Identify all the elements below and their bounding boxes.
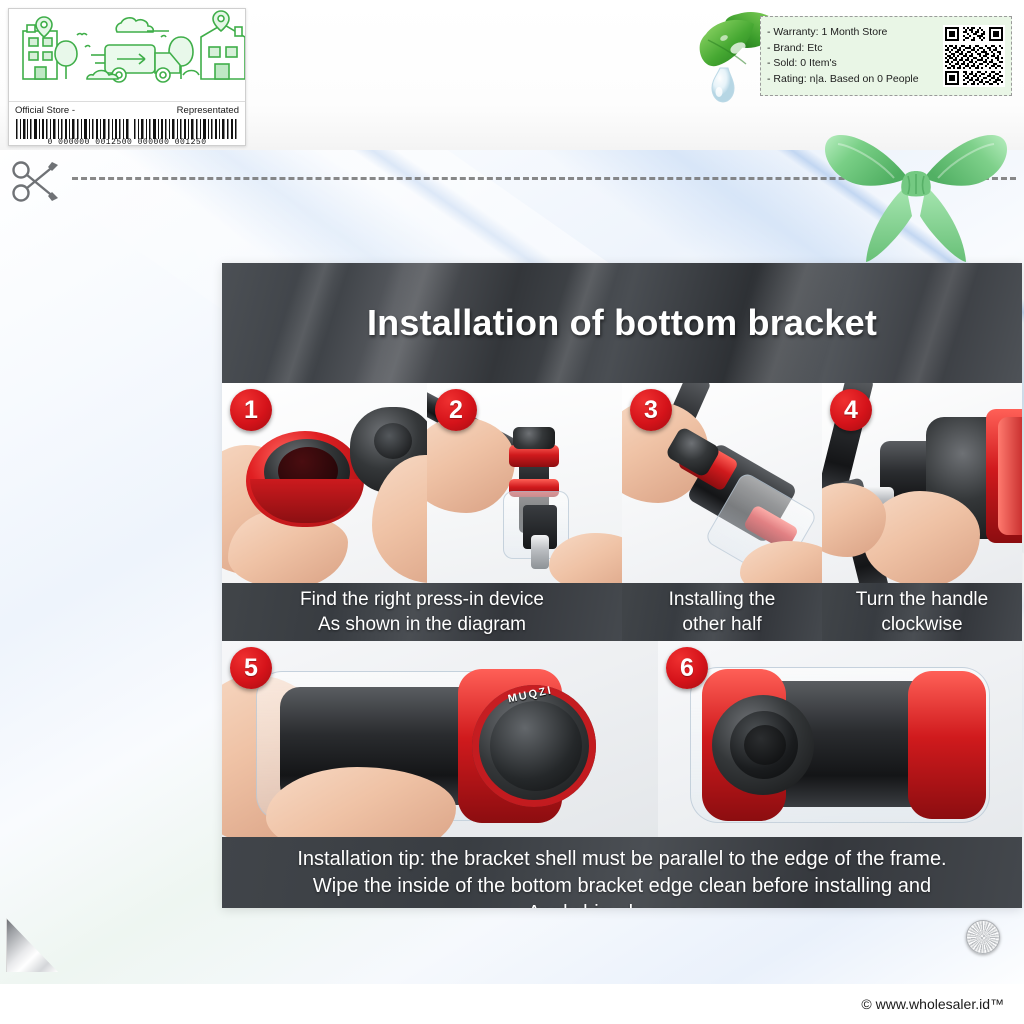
store-label-right: Representated xyxy=(177,105,239,116)
delivery-truck-city-illustration xyxy=(9,9,245,101)
product-info-box: - Warranty: 1 Month Store - Brand: Etc -… xyxy=(760,16,1012,96)
installation-tip: Installation tip: the bracket shell must… xyxy=(222,837,1022,908)
info-line-brand: - Brand: Etc xyxy=(767,41,943,57)
barcode: 0 000000 0012500 000000 001250 xyxy=(9,118,245,146)
page-title: Installation of bottom bracket xyxy=(367,302,877,344)
info-line-sold: - Sold: 0 Item's xyxy=(767,56,943,72)
step-photo-turn-handle[interactable]: 4 xyxy=(822,383,1022,583)
step-photo-press-rod-through-shell[interactable]: 2 xyxy=(427,383,622,583)
installation-instruction-panel: Installation of bottom bracket 1 xyxy=(222,263,1022,908)
caption-step-3: Installing the other half xyxy=(622,583,822,641)
info-line-rating: - Rating: n|a. Based on 0 People xyxy=(767,72,943,88)
product-info-list: - Warranty: 1 Month Store - Brand: Etc -… xyxy=(767,25,943,87)
store-label-left: Official Store - xyxy=(15,105,75,116)
step-photo-installed-bracket-side[interactable]: MUQZI 5 xyxy=(222,641,658,837)
step-photo-red-cup-and-press-tool[interactable]: 1 xyxy=(222,383,427,583)
footer: © www.wholesaler.id™ xyxy=(0,984,1024,1024)
product-coupon-page: Official Store - Representated xyxy=(0,0,1024,1024)
store-card-labels: Official Store - Representated xyxy=(9,101,245,118)
step-photo-installing-other-half[interactable]: 3 xyxy=(622,383,822,583)
step-badge: 4 xyxy=(830,389,872,431)
step-badge: 1 xyxy=(230,389,272,431)
step-badge: 6 xyxy=(666,647,708,689)
green-ribbon-bow xyxy=(818,122,1014,274)
barcode-digits: 0 000000 0012500 000000 001250 xyxy=(14,138,240,146)
metal-knob-button[interactable] xyxy=(966,920,1000,954)
step-badge: 3 xyxy=(630,389,672,431)
steps-photo-row-bottom: MUQZI 5 6 xyxy=(222,641,1022,837)
step-badge: 5 xyxy=(230,647,272,689)
scissors-icon xyxy=(8,154,62,208)
caption-step-1: Find the right press-in device As shown … xyxy=(222,583,622,641)
steps-photo-row-top: 1 2 xyxy=(222,383,1022,583)
qr-code[interactable] xyxy=(943,25,1005,87)
info-line-warranty: - Warranty: 1 Month Store xyxy=(767,25,943,41)
copyright-text: © www.wholesaler.id™ xyxy=(861,996,1004,1012)
steps-caption-row: Find the right press-in device As shown … xyxy=(222,583,1022,641)
caption-step-4: Turn the handle clockwise xyxy=(822,583,1022,641)
official-store-card[interactable]: Official Store - Representated xyxy=(8,8,246,146)
panel-title-bar: Installation of bottom bracket xyxy=(222,263,1022,383)
step-photo-installed-bracket-front[interactable]: 6 xyxy=(658,641,1022,837)
step-badge: 2 xyxy=(435,389,477,431)
